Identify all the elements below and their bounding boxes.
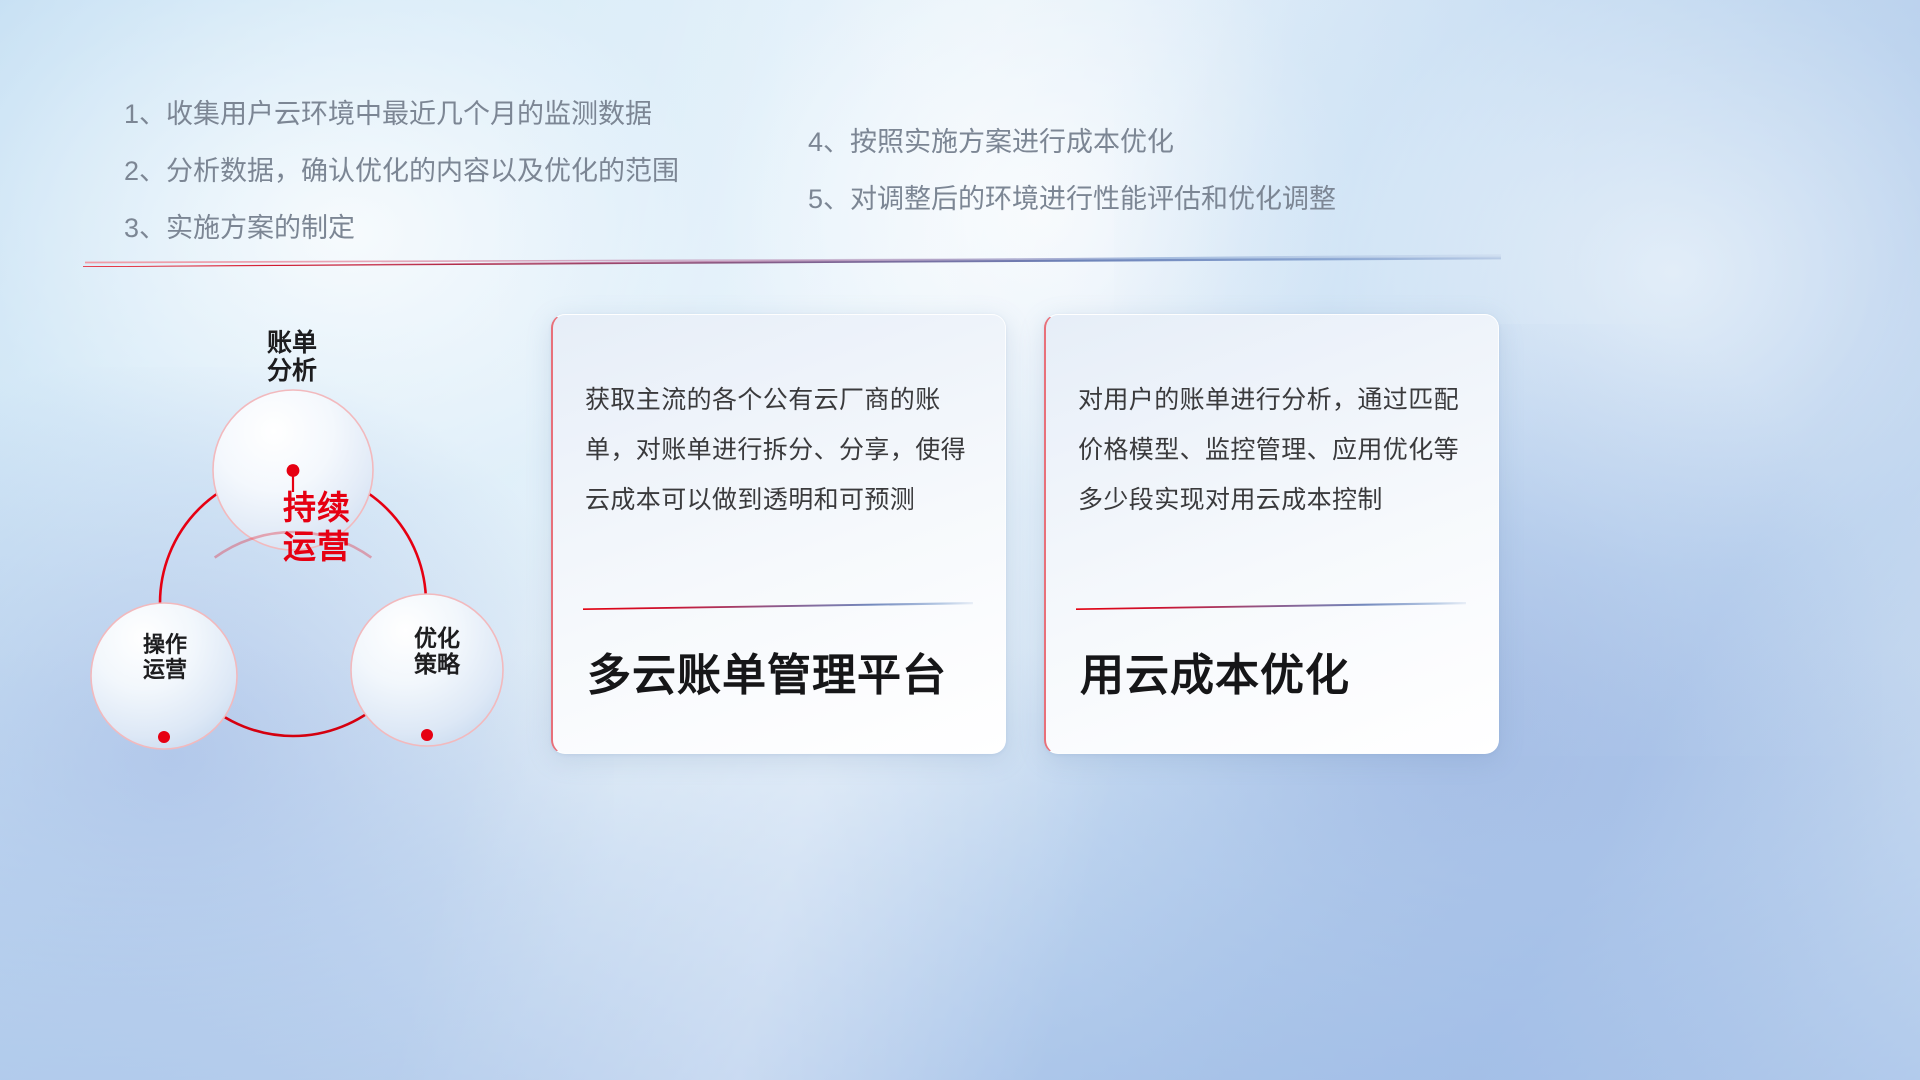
card-body-text: 对用户的账单进行分析，通过匹配价格模型、监控管理、应用优化等多少段实现对用云成本…: [1078, 375, 1472, 525]
step-item: 1、收集用户云环境中最近几个月的监测数据: [124, 101, 679, 128]
card-multi-cloud-billing-platform[interactable]: 获取主流的各个公有云厂商的账单，对账单进行拆分、分享，使得云成本可以做到透明和可…: [551, 314, 1006, 754]
step-item: 3、实施方案的制定: [124, 215, 679, 242]
venn-node-optimization-label: 优化 策略: [362, 626, 512, 678]
steps-list-left: 1、收集用户云环境中最近几个月的监测数据 2、分析数据，确认优化的内容以及优化的…: [124, 101, 679, 242]
card-title: 多云账单管理平台: [587, 639, 947, 703]
section-divider: [83, 253, 1501, 267]
card-accent-rule: [583, 601, 973, 610]
card-cloud-cost-optimization[interactable]: 对用户的账单进行分析，通过匹配价格模型、监控管理、应用优化等多少段实现对用云成本…: [1044, 314, 1499, 754]
card-title: 用云成本优化: [1080, 639, 1350, 703]
card-body-text: 获取主流的各个公有云厂商的账单，对账单进行拆分、分享，使得云成本可以做到透明和可…: [585, 375, 979, 525]
step-item: 2、分析数据，确认优化的内容以及优化的范围: [124, 158, 679, 185]
step-item: 4、按照实施方案进行成本优化: [808, 129, 1336, 156]
venn-center-label: 持续 运营: [227, 489, 407, 567]
venn-node-operation-label: 操作 运营: [90, 633, 240, 682]
step-item: 5、对调整后的环境进行性能评估和优化调整: [808, 186, 1336, 213]
steps-list-right: 4、按照实施方案进行成本优化 5、对调整后的环境进行性能评估和优化调整: [808, 129, 1336, 213]
card-accent-rule: [1076, 601, 1466, 610]
venn-node-bill-analysis-label: 账单 分析: [212, 329, 372, 385]
